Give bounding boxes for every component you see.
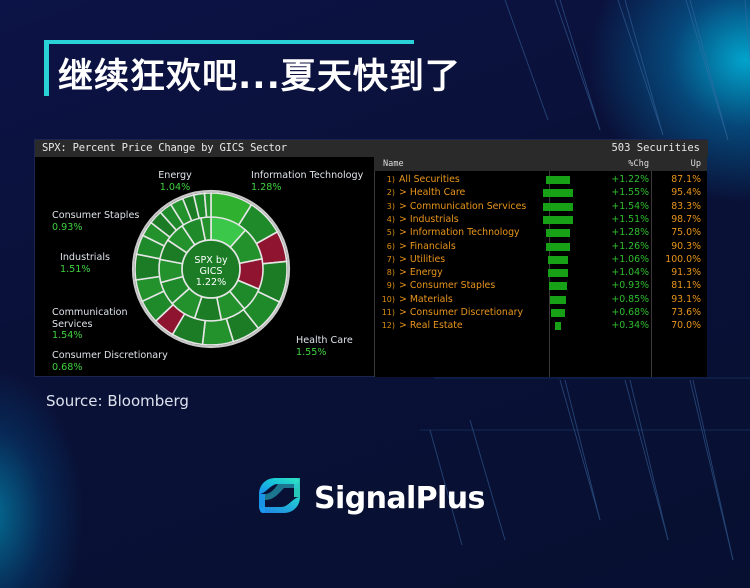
row-pct-change: +1.51% [580,214,649,225]
callout-consumer-staples: Consumer Staples 0.93% [52,210,139,233]
row-name[interactable]: > Consumer Discretionary [399,307,523,318]
table-row[interactable]: 5)> Information Technology+1.28%75.0% [374,226,707,239]
column-header-chg: %Chg [595,159,649,169]
row-pct-change: +1.28% [580,227,649,238]
securities-table[interactable]: Name %Chg Up 1)All Securities+1.22%87.1%… [374,157,707,377]
row-up-pct: 81.1% [655,280,701,291]
table-row[interactable]: 2)> Health Care+1.55%95.4% [374,186,707,199]
row-name[interactable]: > Information Technology [399,227,520,238]
row-up-pct: 75.0% [655,227,701,238]
table-row[interactable]: 9)> Consumer Staples+0.93%81.1% [374,279,707,292]
row-pct-change: +1.22% [580,174,649,185]
row-pct-change: +1.26% [580,241,649,252]
brand-logo: SignalPlus [256,472,485,524]
row-name[interactable]: > Health Care [399,187,465,198]
chg-bar [555,322,562,330]
callout-consumer-discretionary: Consumer Discretionary 0.68% [52,350,168,373]
callout-communication-services: Communication Services 1.54% [52,307,122,342]
row-index: 4) [374,215,395,224]
chg-bar [546,229,571,237]
row-index: 9) [374,281,395,290]
row-up-pct: 73.6% [655,307,701,318]
panel-header-title: SPX: Percent Price Change by GICS Sector [35,140,708,157]
row-up-pct: 87.1% [655,174,701,185]
row-index: 8) [374,268,395,277]
row-name[interactable]: All Securities [399,174,460,185]
row-index: 3) [374,202,395,211]
table-row[interactable]: 11)> Consumer Discretionary+0.68%73.6% [374,306,707,319]
table-row[interactable]: 10)> Materials+0.85%93.1% [374,293,707,306]
chg-bar [551,309,564,317]
row-index: 5) [374,228,395,237]
row-pct-change: +1.54% [580,201,649,212]
column-header-name: Name [383,159,404,169]
chg-bar [548,256,569,264]
table-row[interactable]: 6)> Financials+1.26%90.3% [374,240,707,253]
table-row[interactable]: 3)> Communication Services+1.54%83.3% [374,200,707,213]
sunburst-chart: SPX by GICS 1.22% Energy 1.04% Informati… [35,157,374,377]
row-index: 7) [374,255,395,264]
callout-energy: Energy 1.04% [130,170,220,193]
row-index: 12) [374,321,395,330]
column-header-up: Up [655,159,701,169]
row-up-pct: 95.4% [655,187,701,198]
row-up-pct: 83.3% [655,201,701,212]
callout-health-care: Health Care 1.55% [296,335,353,358]
row-pct-change: +0.34% [580,320,649,331]
table-header: Name %Chg Up [374,157,707,171]
chg-bar [546,176,570,184]
brand-name: SignalPlus [314,481,485,516]
chg-bar [550,296,566,304]
row-name[interactable]: > Materials [399,294,453,305]
page-title: 继续狂欢吧...夏天快到了 [58,48,461,99]
row-up-pct: 93.1% [655,294,701,305]
table-row[interactable]: 12)> Real Estate+0.34%70.0% [374,319,707,332]
callout-information-technology: Information Technology 1.28% [251,170,363,193]
row-index: 10) [374,295,395,304]
chg-bar [543,203,573,211]
row-name[interactable]: > Consumer Staples [399,280,495,291]
callout-industrials: Industrials 1.51% [60,252,110,275]
row-up-pct: 70.0% [655,320,701,331]
securities-count: 503 Securities [611,140,700,157]
row-up-pct: 90.3% [655,241,701,252]
bloomberg-panel: SPX: Percent Price Change by GICS Sector… [34,139,707,377]
row-name[interactable]: > Utilities [399,254,445,265]
table-row[interactable]: 7)> Utilities+1.06%100.0% [374,253,707,266]
row-up-pct: 91.3% [655,267,701,278]
row-index: 6) [374,242,395,251]
source-caption: Source: Bloomberg [46,392,189,410]
chg-bar [543,216,572,224]
row-name[interactable]: > Industrials [399,214,459,225]
row-pct-change: +0.93% [580,280,649,291]
row-index: 11) [374,308,395,317]
row-up-pct: 98.7% [655,214,701,225]
row-name[interactable]: > Real Estate [399,320,463,331]
row-pct-change: +0.85% [580,294,649,305]
chg-bar [548,269,568,277]
row-pct-change: +1.06% [580,254,649,265]
table-row[interactable]: 4)> Industrials+1.51%98.7% [374,213,707,226]
svg-text:SPX by: SPX by [194,255,228,266]
row-index: 1) [374,175,395,184]
table-row[interactable]: 8)> Energy+1.04%91.3% [374,266,707,279]
row-name[interactable]: > Financials [399,241,456,252]
row-pct-change: +1.55% [580,187,649,198]
row-name[interactable]: > Energy [399,267,443,278]
table-row[interactable]: 1)All Securities+1.22%87.1% [374,173,707,186]
row-index: 2) [374,188,395,197]
chg-bar [546,243,570,251]
chg-bar [543,189,573,197]
wave-logo-icon [256,472,303,524]
row-up-pct: 100.0% [655,254,701,265]
row-pct-change: +1.04% [580,267,649,278]
row-pct-change: +0.68% [580,307,649,318]
slide-canvas: 继续狂欢吧...夏天快到了 SPX: Percent Price Change … [0,0,750,588]
row-name[interactable]: > Communication Services [399,201,526,212]
svg-text:1.22%: 1.22% [196,277,226,288]
svg-text:GICS: GICS [199,266,222,277]
chg-bar [549,282,567,290]
